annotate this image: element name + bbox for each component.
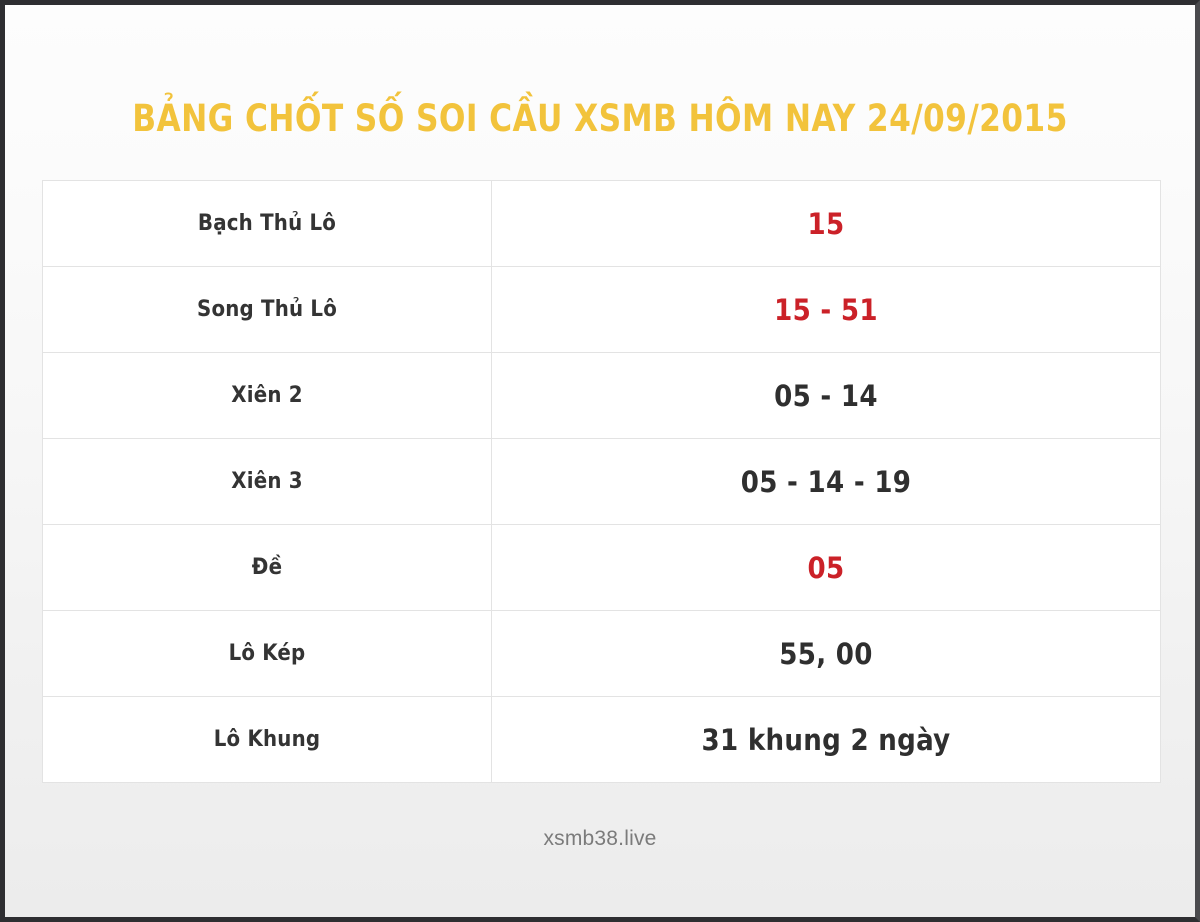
- row-value: 15 - 51: [774, 293, 878, 327]
- row-label: Lô Kép: [229, 641, 306, 666]
- row-value: 55, 00: [779, 637, 872, 671]
- row-value-cell: 05: [492, 525, 1161, 611]
- row-label: Xiên 2: [231, 383, 302, 408]
- prediction-table: Bạch Thủ Lô15Song Thủ Lô15 - 51Xiên 205 …: [42, 180, 1161, 783]
- row-label: Đề: [252, 555, 282, 580]
- row-label-cell: Xiên 3: [43, 439, 492, 525]
- table-row: Song Thủ Lô15 - 51: [43, 267, 1161, 353]
- table-row: Lô Kép55, 00: [43, 611, 1161, 697]
- row-label-cell: Xiên 2: [43, 353, 492, 439]
- image-frame: BẢNG CHỐT SỐ SOI CẦU XSMB HÔM NAY 24/09/…: [0, 0, 1200, 922]
- row-value-cell: 05 - 14 - 19: [492, 439, 1161, 525]
- row-label: Lô Khung: [214, 727, 321, 752]
- row-value: 05 - 14: [774, 379, 878, 413]
- row-value-cell: 55, 00: [492, 611, 1161, 697]
- row-label: Song Thủ Lô: [197, 297, 337, 322]
- row-label-cell: Song Thủ Lô: [43, 267, 492, 353]
- footer-site-label: xsmb38.live: [5, 827, 1195, 851]
- table-row: Xiên 305 - 14 - 19: [43, 439, 1161, 525]
- row-label-cell: Lô Khung: [43, 697, 492, 783]
- row-value: 05 - 14 - 19: [741, 465, 912, 499]
- page-canvas: BẢNG CHỐT SỐ SOI CẦU XSMB HÔM NAY 24/09/…: [5, 5, 1195, 917]
- row-label-cell: Lô Kép: [43, 611, 492, 697]
- table-row: Xiên 205 - 14: [43, 353, 1161, 439]
- table-row: Lô Khung31 khung 2 ngày: [43, 697, 1161, 783]
- row-value-cell: 05 - 14: [492, 353, 1161, 439]
- row-value: 05: [808, 551, 845, 585]
- row-value-cell: 31 khung 2 ngày: [492, 697, 1161, 783]
- row-label-cell: Bạch Thủ Lô: [43, 181, 492, 267]
- row-label-cell: Đề: [43, 525, 492, 611]
- row-label: Xiên 3: [231, 469, 302, 494]
- row-value: 31 khung 2 ngày: [702, 723, 951, 757]
- table-row: Bạch Thủ Lô15: [43, 181, 1161, 267]
- table-row: Đề05: [43, 525, 1161, 611]
- row-value-cell: 15: [492, 181, 1161, 267]
- row-value: 15: [808, 207, 845, 241]
- row-label: Bạch Thủ Lô: [198, 211, 336, 236]
- row-value-cell: 15 - 51: [492, 267, 1161, 353]
- page-title: BẢNG CHỐT SỐ SOI CẦU XSMB HÔM NAY 24/09/…: [41, 97, 1160, 140]
- prediction-table-body: Bạch Thủ Lô15Song Thủ Lô15 - 51Xiên 205 …: [43, 181, 1161, 783]
